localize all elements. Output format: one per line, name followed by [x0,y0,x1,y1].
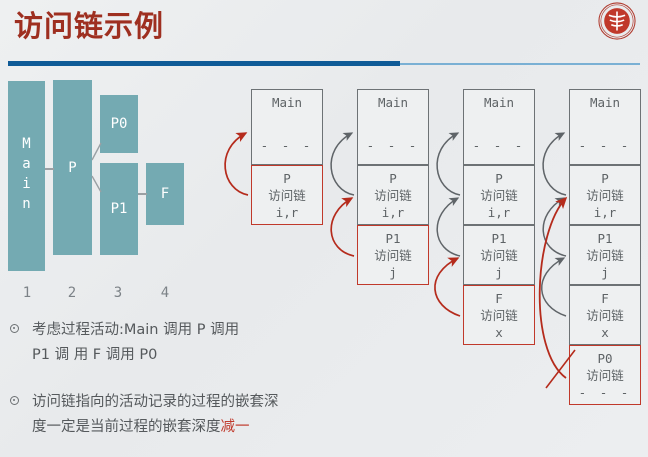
bullet-item-1: 考虑过程活动:Main 调用 P 调用 P1 调 用 F 调用 P0 [32,318,252,368]
frame-line: - - - [570,137,640,154]
frame-line: i,r [358,204,428,221]
arrow-c3-f-to-p1 [435,258,460,316]
bullet-line-emphasis: 减一 [221,419,250,435]
stack-frame-p0: P0 访问链 - - - [569,345,641,405]
frame-line: 访问链 [358,187,428,204]
frame-line: j [570,264,640,281]
header-rule-thin [400,63,640,65]
frame-line: P [358,170,428,187]
arrow-c2-p-to-main [331,133,354,195]
arrow-c4-p0-to-p [540,198,566,378]
stack-frame-p1: P1 访问链 j [569,225,641,285]
arrow-c4-p-to-main [543,133,566,195]
bullet-item-2: 访问链指向的活动记录的过程的嵌套深 度一定是当前过程的嵌套深度减一 [32,390,290,440]
frame-line: j [464,264,534,281]
frame-line: 访问链 [570,307,640,324]
frame-line: P0 [570,350,640,367]
frame-line: P1 [358,230,428,247]
nesting-bar-p0: P0 [100,95,138,153]
nesting-bar-f: F [146,163,184,225]
university-seal-logo [598,2,636,40]
header-rule-thick [8,61,400,66]
stack-frame-main: Main - - - [569,89,641,165]
stack-frame-main: Main - - - [251,89,323,165]
stack-frame-p1: P1 访问链 j [463,225,535,285]
axis-label-3: 3 [108,285,128,301]
stack-frame-p: P 访问链 i,r [463,165,535,225]
slide-canvas: 访问链示例 Main P P0 P1 F 1 2 3 4 Main - - - … [0,0,648,457]
axis-label-4: 4 [155,285,175,301]
arrow-c3-p-to-main [437,133,460,195]
frame-line: i,r [464,204,534,221]
frame-line: P [570,170,640,187]
frame-line: - - - [570,384,640,401]
arrow-c4-f-to-p1 [542,258,566,316]
page-title: 访问链示例 [14,8,164,46]
arrow-c4-p1-to-p [543,198,566,256]
bullet-line: 访问链指向的活动记录的过程的嵌套深 [32,394,279,410]
arrow-c3-p1-to-p [437,198,460,256]
stack-frame-f: F 访问链 x [569,285,641,345]
frame-line: - - - [252,137,322,154]
frame-line: 访问链 [358,247,428,264]
stack-frame-p: P 访问链 i,r [569,165,641,225]
frame-line: 访问链 [464,247,534,264]
nesting-bar-main: Main [8,81,45,271]
frame-line: F [464,290,534,307]
axis-label-1: 1 [17,285,37,301]
frame-line: j [358,264,428,281]
stack-frame-p: P 访问链 i,r [251,165,323,225]
frame-line: x [464,324,534,341]
frame-line: - - - [358,137,428,154]
connector-p1-f [138,193,147,195]
frame-line: P1 [464,230,534,247]
bullet-dot-icon [10,396,19,405]
frame-line: 访问链 [252,187,322,204]
nesting-bar-p1: P1 [100,163,138,255]
frame-line: P1 [570,230,640,247]
nesting-bar-p: P [53,80,92,255]
frame-line: Main [570,94,640,111]
frame-line: i,r [570,204,640,221]
frame-line: - - - [464,137,534,154]
frame-line: i,r [252,204,322,221]
connector-main-p [45,168,54,170]
bullet-line: 用 F 调用 P0 [74,347,158,363]
frame-line: 访问链 [570,367,640,384]
frame-line: Main [358,94,428,111]
bullet-line: 度一定是当前过程的嵌套深度 [32,419,221,435]
frame-line: 访问链 [570,187,640,204]
frame-line: F [570,290,640,307]
frame-line: 访问链 [570,247,640,264]
frame-line: P [464,170,534,187]
arrow-c1-p-to-main [225,133,248,195]
frame-line: x [570,324,640,341]
axis-label-2: 2 [62,285,82,301]
frame-line: P [252,170,322,187]
nesting-branch-lines [0,0,648,457]
bullet-dot-icon [10,324,19,333]
stack-frame-p: P 访问链 i,r [357,165,429,225]
arrow-c2-p1-to-p [331,198,354,256]
stack-frame-p1: P1 访问链 j [357,225,429,285]
access-link-arrows [0,0,648,457]
stack-frame-f: F 访问链 x [463,285,535,345]
stack-frame-main: Main - - - [463,89,535,165]
frame-line: Main [252,94,322,111]
frame-line: 访问链 [464,187,534,204]
stack-frame-main: Main - - - [357,89,429,165]
frame-line: 访问链 [464,307,534,324]
frame-line: Main [464,94,534,111]
